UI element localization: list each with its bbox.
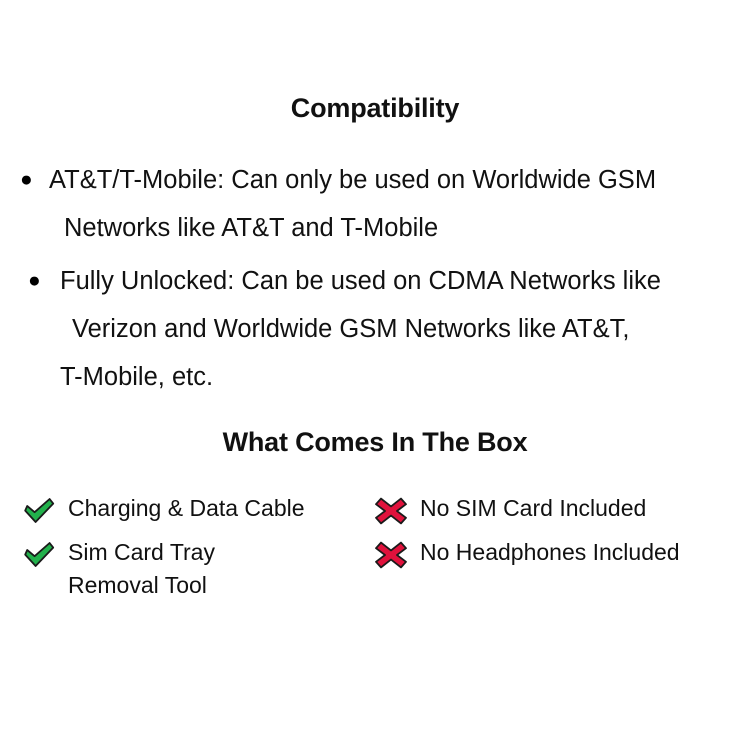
bullet-text-block: AT&T/T-Mobile: Can only be used on World… [16,156,742,252]
bullet-line: Networks like AT&T and T-Mobile [49,204,742,252]
bullet-line: Fully Unlocked: Can be used on CDMA Netw… [60,257,742,305]
box-item-text: No Headphones Included [374,536,744,569]
box-contents-grid: Charging & Data Cable Sim Card Tray Remo… [0,492,750,622]
box-contents-heading: What Comes In The Box [0,427,750,458]
box-item-charging-cable: Charging & Data Cable [22,492,372,534]
red-cross-icon [374,496,408,526]
compatibility-bullet-list: ● AT&T/T-Mobile: Can only be used on Wor… [16,156,742,403]
box-item-no-headphones: No Headphones Included [374,536,744,578]
bullet-dot-icon: ● [28,257,54,305]
bullet-line: AT&T/T-Mobile: Can only be used on World… [49,156,742,204]
bullet-line: T-Mobile, etc. [60,353,742,401]
compatibility-heading: Compatibility [0,93,750,124]
box-item-text: Charging & Data Cable [22,492,372,525]
bullet-item-fully-unlocked: ● Fully Unlocked: Can be used on CDMA Ne… [16,257,742,401]
box-item-no-sim-card: No SIM Card Included [374,492,744,534]
box-item-line: No Headphones Included [420,536,744,569]
box-item-sim-tray-tool: Sim Card Tray Removal Tool [22,536,372,602]
bullet-text-block: Fully Unlocked: Can be used on CDMA Netw… [16,257,742,401]
bullet-dot-icon: ● [20,156,46,204]
box-item-line: Charging & Data Cable [68,492,372,525]
box-column-included: Charging & Data Cable Sim Card Tray Remo… [22,492,372,604]
box-item-text: No SIM Card Included [374,492,744,525]
box-column-excluded: No SIM Card Included No Headphones Inclu… [374,492,744,580]
product-info-panel: Compatibility ● AT&T/T-Mobile: Can only … [0,0,750,750]
box-item-text: Sim Card Tray Removal Tool [22,536,372,602]
bullet-item-att-tmobile: ● AT&T/T-Mobile: Can only be used on Wor… [16,156,742,252]
green-check-icon [22,496,56,526]
box-item-line: Sim Card Tray [68,536,372,569]
bullet-line: Verizon and Worldwide GSM Networks like … [60,305,742,353]
green-check-icon [22,540,56,570]
box-item-line: Removal Tool [68,569,372,602]
box-item-line: No SIM Card Included [420,492,744,525]
red-cross-icon [374,540,408,570]
